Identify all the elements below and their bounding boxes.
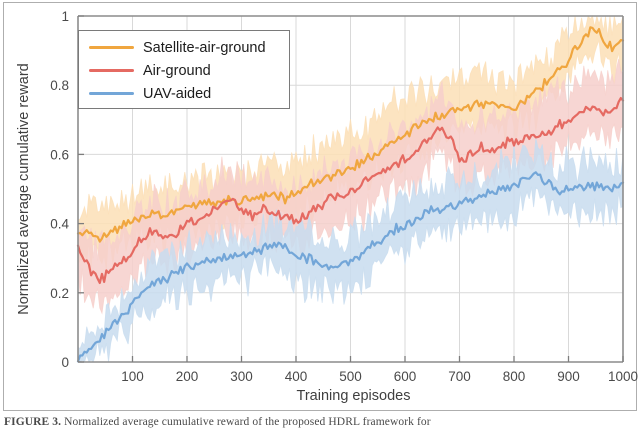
figure-caption: FIGURE 3. Normalized average cumulative … — [4, 416, 636, 434]
legend-swatch-air-ground — [89, 69, 134, 73]
x-axis-title: Training episodes — [81, 388, 626, 404]
figure-caption-text: Normalized average cumulative reward of … — [64, 416, 431, 428]
y-tick-label: 0.8 — [50, 78, 69, 93]
x-tick-label: 400 — [285, 369, 308, 384]
legend-label-satellite-air-ground: Satellite-air-ground — [143, 40, 266, 56]
legend-swatch-satellite-air-ground — [89, 46, 134, 50]
x-tick-labels: 1002003004005006007008009001000 — [121, 369, 638, 384]
y-tick-label: 1 — [61, 9, 69, 24]
chart-legend: Satellite-air-ground Air-ground UAV-aide… — [78, 30, 290, 109]
y-axis-title: Normalized average cumulative reward — [16, 19, 32, 359]
figure-root: 1002003004005006007008009001000 00.20.40… — [0, 0, 640, 434]
x-tick-label: 500 — [339, 369, 362, 384]
figure-caption-number: FIGURE 3. — [4, 416, 61, 428]
y-tick-label: 0.2 — [50, 286, 69, 301]
chart-area: 1002003004005006007008009001000 00.20.40… — [4, 3, 638, 412]
x-tick-label: 700 — [448, 369, 471, 384]
x-tick-label: 900 — [557, 369, 580, 384]
y-tick-label: 0 — [61, 355, 69, 370]
legend-swatch-uav-aided — [89, 92, 134, 96]
x-tick-label: 300 — [230, 369, 253, 384]
y-tick-labels: 00.20.40.60.81 — [50, 9, 69, 370]
x-tick-label: 100 — [121, 369, 144, 384]
x-tick-label: 800 — [503, 369, 526, 384]
x-tick-label: 1000 — [608, 369, 638, 384]
legend-label-uav-aided: UAV-aided — [143, 86, 211, 102]
legend-item-satellite-air-ground: Satellite-air-ground — [79, 36, 289, 59]
legend-label-air-ground: Air-ground — [143, 63, 211, 79]
legend-item-air-ground: Air-ground — [79, 59, 289, 82]
x-tick-label: 200 — [176, 369, 199, 384]
x-tick-label: 600 — [394, 369, 417, 384]
legend-item-uav-aided: UAV-aided — [79, 82, 289, 105]
y-tick-label: 0.4 — [50, 217, 69, 232]
y-tick-label: 0.6 — [50, 147, 69, 162]
figure-panel: 1002003004005006007008009001000 00.20.40… — [3, 2, 637, 411]
